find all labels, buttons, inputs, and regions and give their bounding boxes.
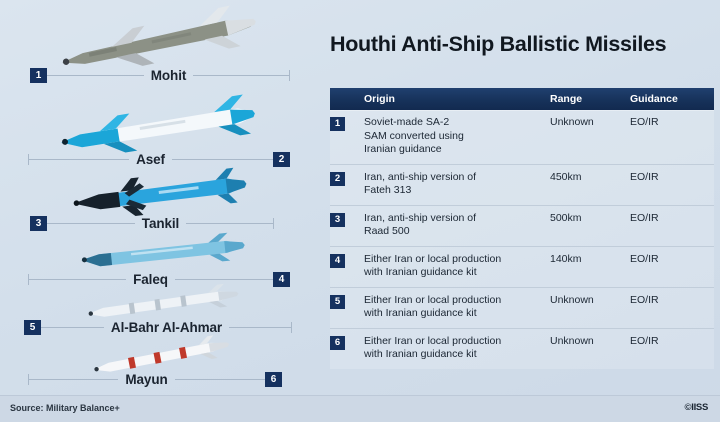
row-badge-3: 3	[330, 213, 345, 227]
page-title: Houthi Anti-Ship Ballistic Missiles	[330, 32, 666, 57]
table-row: 3 Iran, anti-ship version of Raad 500 50…	[330, 206, 714, 247]
missile-image-mayun	[0, 340, 318, 370]
row-guidance-cell: EO/IR	[630, 253, 714, 267]
header-range: Range	[550, 93, 630, 105]
missile-illustration-panel: 1 Mohit	[0, 0, 318, 394]
header-origin: Origin	[364, 93, 550, 105]
row-number-cell: 1	[330, 116, 364, 131]
row-origin-cell: Iran, anti-ship version of Fateh 313	[364, 171, 550, 198]
copyright-label: ©IISS	[685, 402, 708, 413]
missile-name-2: Asef	[129, 152, 172, 167]
row-number-cell: 3	[330, 212, 364, 227]
row-origin-cell: Either Iran or local production with Ira…	[364, 253, 550, 280]
connector-tankil: 3 Tankil	[0, 214, 318, 232]
table-row: 5 Either Iran or local production with I…	[330, 288, 714, 329]
missile-badge-4: 4	[273, 272, 290, 287]
table-row: 6 Either Iran or local production with I…	[330, 329, 714, 369]
asef-icon	[54, 105, 264, 151]
data-table-panel: Houthi Anti-Ship Ballistic Missiles Orig…	[326, 0, 720, 394]
row-origin-cell: Either Iran or local production with Ira…	[364, 294, 550, 321]
row-range-cell: Unknown	[550, 335, 630, 349]
row-badge-5: 5	[330, 295, 345, 309]
row-number-cell: 4	[330, 253, 364, 268]
row-origin-cell: Soviet-made SA-2 SAM converted using Ira…	[364, 116, 550, 157]
missile-entry-mohit: 1 Mohit	[0, 18, 318, 82]
missile-entry-mayun: Mayun 6	[0, 340, 318, 386]
row-guidance-cell: EO/IR	[630, 294, 714, 308]
missile-image-mohit	[0, 18, 318, 66]
missile-entry-al-bahr-al-ahmar: 5 Al-Bahr Al-Ahmar	[0, 288, 318, 334]
missile-image-tankil	[0, 174, 318, 214]
row-guidance-cell: EO/IR	[630, 212, 714, 226]
missile-image-al-bahr-al-ahmar	[0, 288, 318, 318]
missile-badge-3: 3	[30, 216, 47, 231]
connector-mohit: 1 Mohit	[0, 66, 318, 84]
table-header-row: Origin Range Guidance	[330, 88, 714, 110]
missile-name-4: Faleq	[126, 272, 175, 287]
row-badge-4: 4	[330, 254, 345, 268]
missile-badge-5: 5	[24, 320, 41, 335]
missile-spec-table: Origin Range Guidance 1 Soviet-made SA-2…	[330, 88, 714, 369]
missile-name-1: Mohit	[144, 68, 194, 83]
row-number-cell: 5	[330, 294, 364, 309]
missile-entry-faleq: Faleq 4	[0, 234, 318, 286]
row-guidance-cell: EO/IR	[630, 335, 714, 349]
connector-asef: Asef 2	[0, 150, 318, 168]
footer-bar: Source: Military Balance+ ©IISS	[0, 395, 720, 422]
missile-badge-2: 2	[273, 152, 290, 167]
table-row: 1 Soviet-made SA-2 SAM converted using I…	[330, 110, 714, 165]
al-bahr-al-ahmar-icon	[77, 287, 242, 319]
row-range-cell: Unknown	[550, 116, 630, 130]
mayun-icon	[84, 339, 234, 371]
row-badge-6: 6	[330, 336, 345, 350]
missile-badge-1: 1	[30, 68, 47, 83]
missile-name-3: Tankil	[135, 216, 186, 231]
table-row: 2 Iran, anti-ship version of Fateh 313 4…	[330, 165, 714, 206]
table-row: 4 Either Iran or local production with I…	[330, 247, 714, 288]
missile-entry-tankil: 3 Tankil	[0, 174, 318, 230]
row-origin-cell: Either Iran or local production with Ira…	[364, 335, 550, 362]
connector-al-bahr-al-ahmar: 5 Al-Bahr Al-Ahmar	[0, 318, 318, 336]
row-guidance-cell: EO/IR	[630, 116, 714, 130]
header-guidance: Guidance	[630, 93, 714, 105]
missile-image-asef	[0, 106, 318, 150]
row-range-cell: 450km	[550, 171, 630, 185]
connector-mayun: Mayun 6	[0, 370, 318, 388]
row-range-cell: 140km	[550, 253, 630, 267]
row-number-cell: 2	[330, 171, 364, 186]
mohit-icon	[52, 16, 267, 68]
row-guidance-cell: EO/IR	[630, 171, 714, 185]
row-badge-2: 2	[330, 172, 345, 186]
tankil-icon	[67, 173, 252, 215]
missile-name-6: Mayun	[118, 372, 174, 387]
row-number-cell: 6	[330, 335, 364, 350]
missile-entry-asef: Asef 2	[0, 106, 318, 166]
row-origin-cell: Iran, anti-ship version of Raad 500	[364, 212, 550, 239]
faleq-icon	[69, 233, 249, 271]
missile-name-5: Al-Bahr Al-Ahmar	[104, 320, 229, 335]
connector-faleq: Faleq 4	[0, 270, 318, 288]
row-range-cell: 500km	[550, 212, 630, 226]
row-badge-1: 1	[330, 117, 345, 131]
missile-image-faleq	[0, 234, 318, 270]
source-label: Source: Military Balance+	[10, 403, 120, 413]
missile-badge-6: 6	[265, 372, 282, 387]
row-range-cell: Unknown	[550, 294, 630, 308]
